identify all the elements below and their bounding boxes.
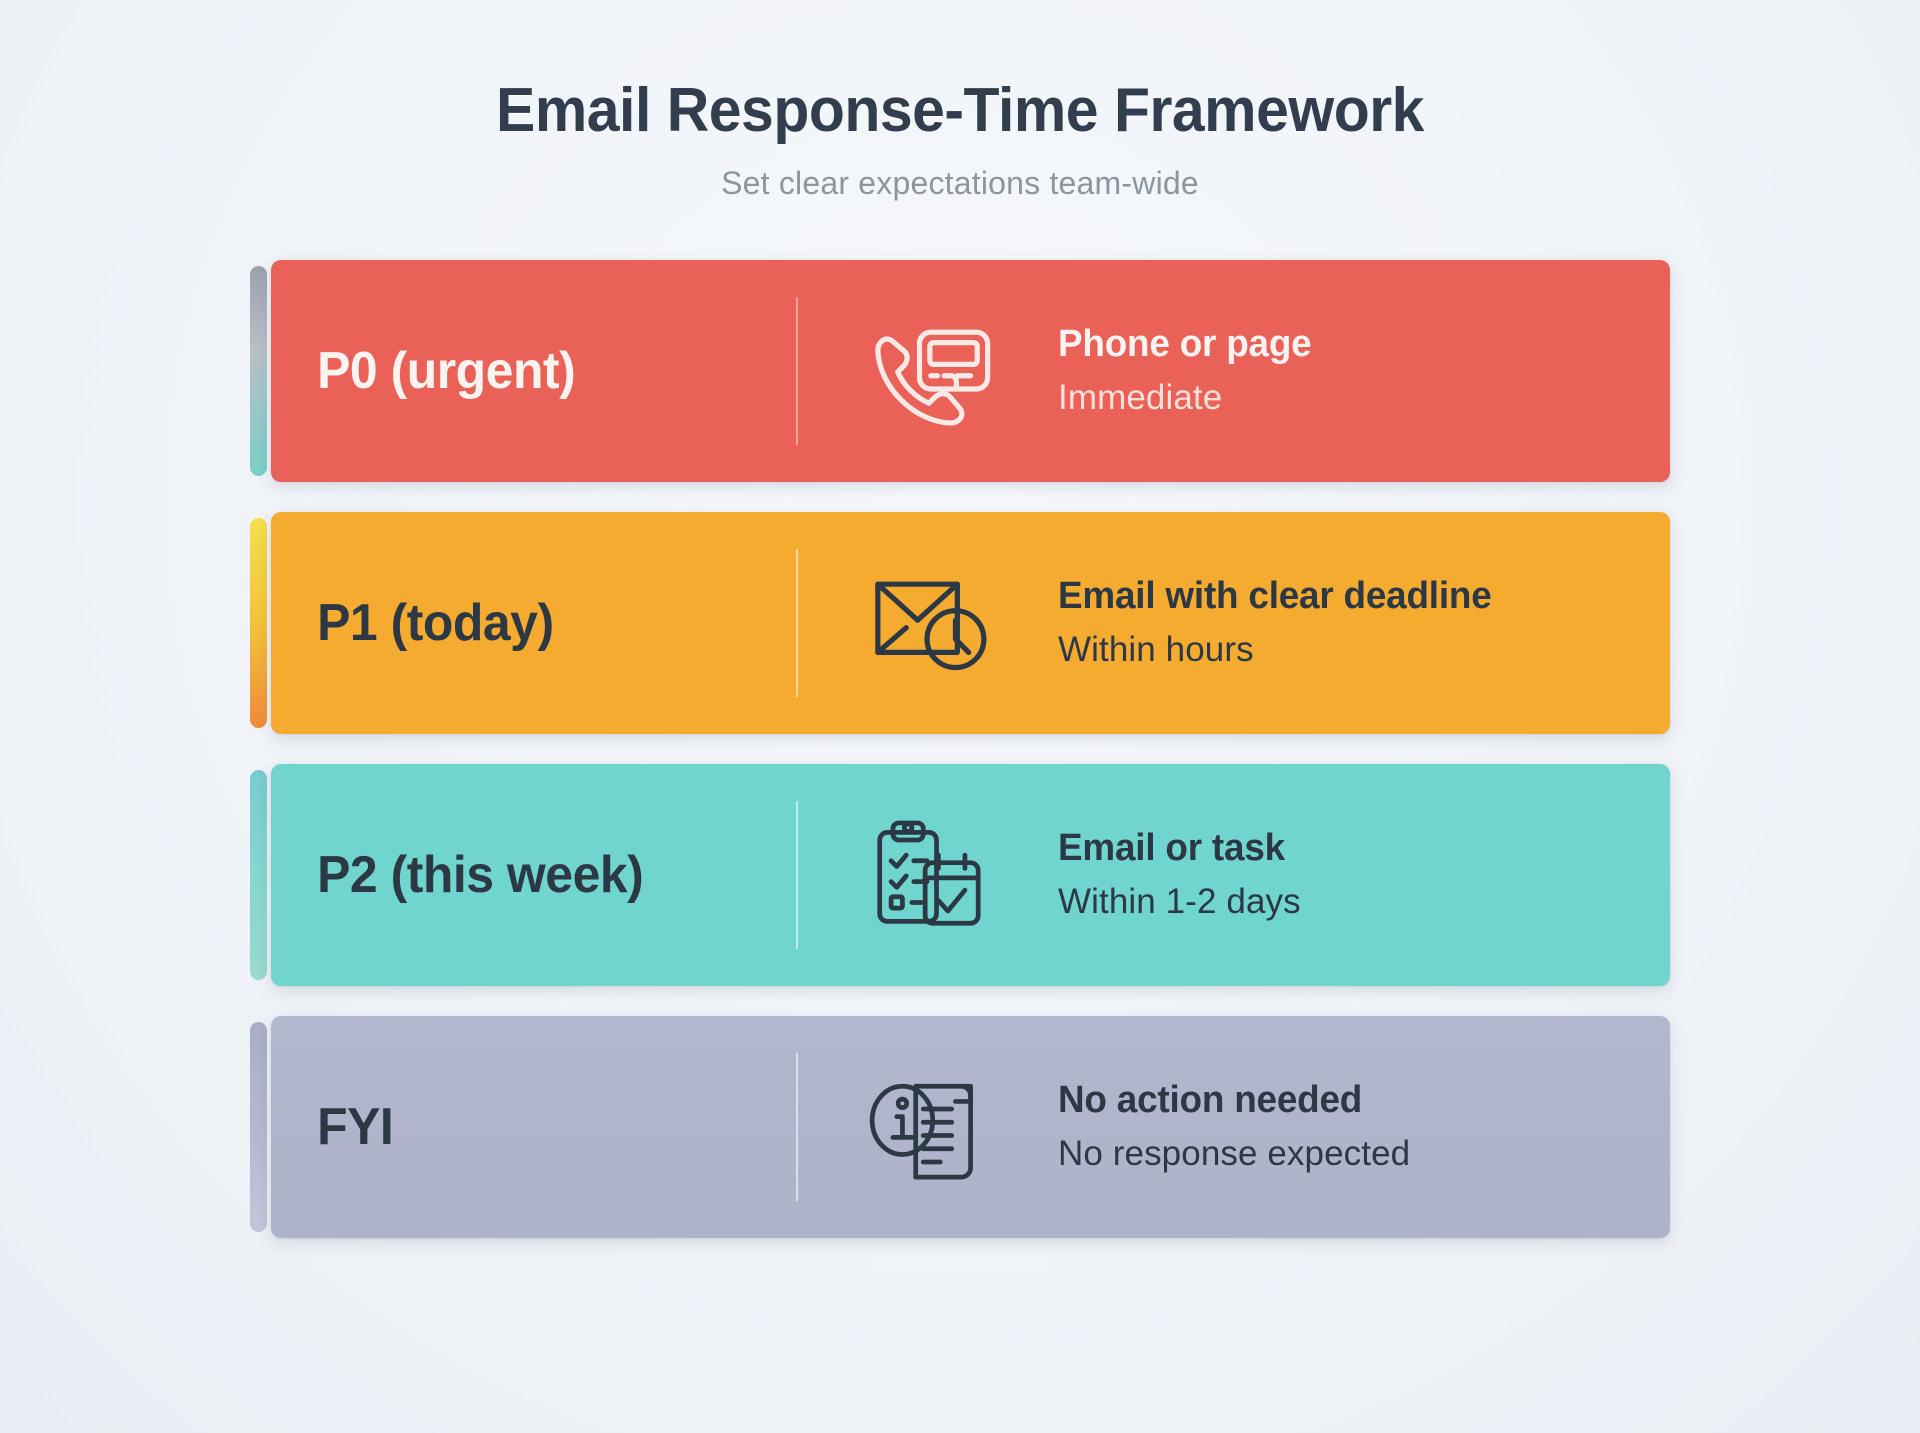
channel-text-p1: Email with clear deadline (1058, 575, 1613, 619)
channel-text-p0: Phone or page (1058, 323, 1613, 367)
priority-rows: P0 (urgent) Phone or page Immed (0, 260, 1920, 1238)
page-subtitle: Set clear expectations team-wide (0, 165, 1920, 202)
infographic-poster: Email Response-Time Framework Set clear … (0, 0, 1920, 1433)
info-document-icon (798, 1064, 1058, 1190)
channel-text-p2: Email or task (1058, 827, 1613, 871)
band-p2: P2 (this week) (271, 764, 1670, 986)
priority-row-p0: P0 (urgent) Phone or page Immed (250, 260, 1670, 482)
priority-label-p2: P2 (this week) (271, 845, 775, 905)
page-title: Email Response-Time Framework (48, 78, 1872, 143)
envelope-clock-icon (798, 560, 1058, 686)
timing-text-p2: Within 1-2 days (1058, 880, 1630, 924)
priority-label-p0: P0 (urgent) (271, 341, 775, 401)
priority-row-p2: P2 (this week) (250, 764, 1670, 986)
band-p1: P1 (today) Email with clear deadline Wit… (271, 512, 1670, 734)
priority-row-p1: P1 (today) Email with clear deadline Wit… (250, 512, 1670, 734)
timing-text-p0: Immediate (1058, 376, 1630, 420)
accent-bar-fyi (250, 1022, 267, 1232)
row-text-p1: Email with clear deadline Within hours (1058, 575, 1670, 671)
row-text-p0: Phone or page Immediate (1058, 323, 1670, 419)
row-text-fyi: No action needed No response expected (1058, 1079, 1670, 1175)
priority-label-fyi: FYI (271, 1097, 775, 1157)
timing-text-fyi: No response expected (1058, 1132, 1630, 1176)
accent-bar-p2 (250, 770, 267, 980)
band-p0: P0 (urgent) Phone or page Immed (271, 260, 1670, 482)
row-text-p2: Email or task Within 1-2 days (1058, 827, 1670, 923)
priority-label-p1: P1 (today) (271, 593, 775, 653)
accent-bar-p0 (250, 266, 267, 476)
channel-text-fyi: No action needed (1058, 1079, 1613, 1123)
band-fyi: FYI (271, 1016, 1670, 1238)
phone-pager-icon (798, 308, 1058, 434)
accent-bar-p1 (250, 518, 267, 728)
poster-header: Email Response-Time Framework Set clear … (0, 0, 1920, 202)
clipboard-calendar-icon (798, 812, 1058, 938)
timing-text-p1: Within hours (1058, 628, 1630, 672)
priority-row-fyi: FYI (250, 1016, 1670, 1238)
